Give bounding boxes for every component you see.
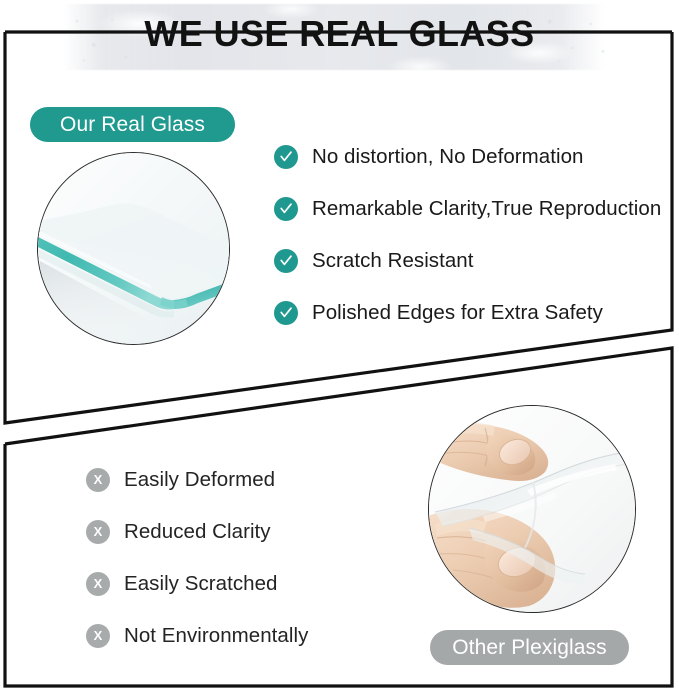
cross-circle-icon: X bbox=[86, 520, 110, 544]
list-item: X Reduced Clarity bbox=[86, 506, 386, 558]
list-item: Scratch Resistant bbox=[274, 235, 674, 287]
cross-circle-icon: X bbox=[86, 624, 110, 648]
badge-bad-label: Other Plexiglass bbox=[452, 636, 607, 660]
list-item-label: Polished Edges for Extra Safety bbox=[312, 301, 603, 325]
cross-circle-icon: X bbox=[86, 468, 110, 492]
cross-glyph: X bbox=[94, 577, 103, 590]
glass-panel-illustration bbox=[38, 153, 229, 344]
list-item: Polished Edges for Extra Safety bbox=[274, 287, 674, 339]
badge-good-label: Our Real Glass bbox=[60, 113, 205, 137]
real-glass-corner-photo bbox=[37, 152, 230, 345]
hand-bending-plexiglass-photo bbox=[428, 405, 636, 613]
list-item-label: Easily Deformed bbox=[124, 468, 275, 492]
page-title: WE USE REAL GLASS bbox=[0, 13, 679, 55]
check-circle-icon bbox=[274, 197, 298, 221]
plexiglass-bending-illustration bbox=[429, 406, 635, 612]
check-circle-icon bbox=[274, 301, 298, 325]
list-item-label: Remarkable Clarity,True Reproduction bbox=[312, 197, 661, 221]
check-circle-icon bbox=[274, 145, 298, 169]
cross-glyph: X bbox=[94, 629, 103, 642]
list-item: X Easily Scratched bbox=[86, 558, 386, 610]
list-item-label: Reduced Clarity bbox=[124, 520, 271, 544]
list-item: X Not Environmentally bbox=[86, 610, 386, 662]
infographic-page: WE USE REAL GLASS Our Real Glass bbox=[0, 0, 679, 691]
list-item-label: Easily Scratched bbox=[124, 572, 277, 596]
status-badge-our-real-glass: Our Real Glass bbox=[30, 107, 235, 142]
advantages-list: No distortion, No Deformation Remarkable… bbox=[274, 131, 674, 339]
list-item: Remarkable Clarity,True Reproduction bbox=[274, 183, 674, 235]
list-item-label: Scratch Resistant bbox=[312, 249, 474, 273]
cross-circle-icon: X bbox=[86, 572, 110, 596]
list-item: X Easily Deformed bbox=[86, 454, 386, 506]
list-item-label: Not Environmentally bbox=[124, 624, 308, 648]
list-item: No distortion, No Deformation bbox=[274, 131, 674, 183]
disadvantages-list: X Easily Deformed X Reduced Clarity X Ea… bbox=[86, 454, 386, 662]
cross-glyph: X bbox=[94, 473, 103, 486]
cross-glyph: X bbox=[94, 525, 103, 538]
status-badge-other-plexiglass: Other Plexiglass bbox=[430, 630, 629, 665]
check-circle-icon bbox=[274, 249, 298, 273]
list-item-label: No distortion, No Deformation bbox=[312, 145, 583, 169]
